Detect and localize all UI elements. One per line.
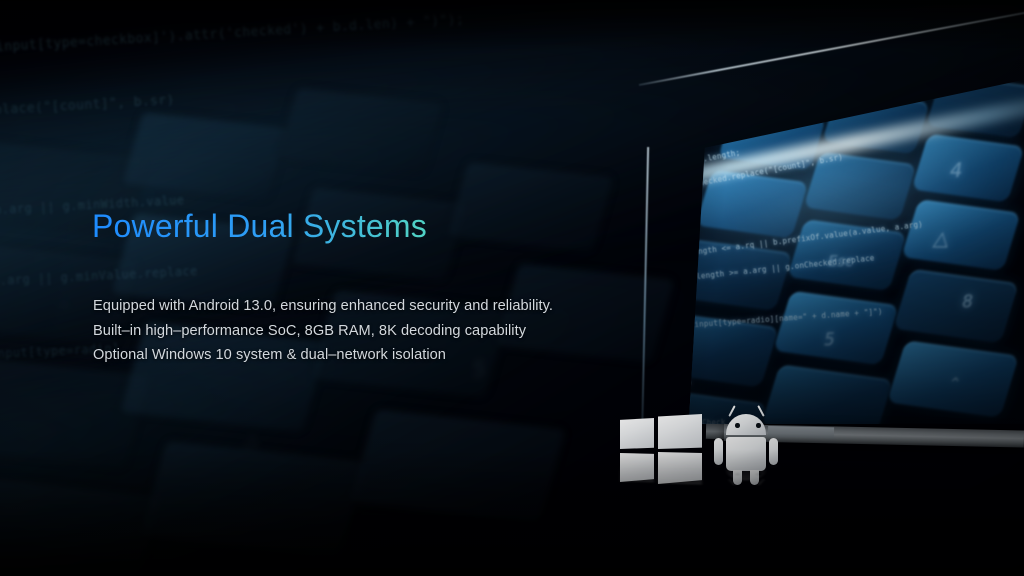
page-title: Powerful Dual Systems (92, 204, 612, 248)
slide-canvas: 5 △ ⌃ input[type=checkbox]').attr('check… (0, 0, 1024, 576)
list-item: Built–in high–performance SoC, 8GB RAM, … (93, 319, 612, 344)
list-item: Optional Windows 10 system & dual–networ… (93, 343, 612, 368)
feature-list: Equipped with Android 13.0, ensuring enh… (93, 294, 612, 368)
slide-copy: Powerful Dual Systems Powerful Dual Syst… (92, 204, 612, 368)
list-item: Equipped with Android 13.0, ensuring enh… (93, 294, 612, 319)
